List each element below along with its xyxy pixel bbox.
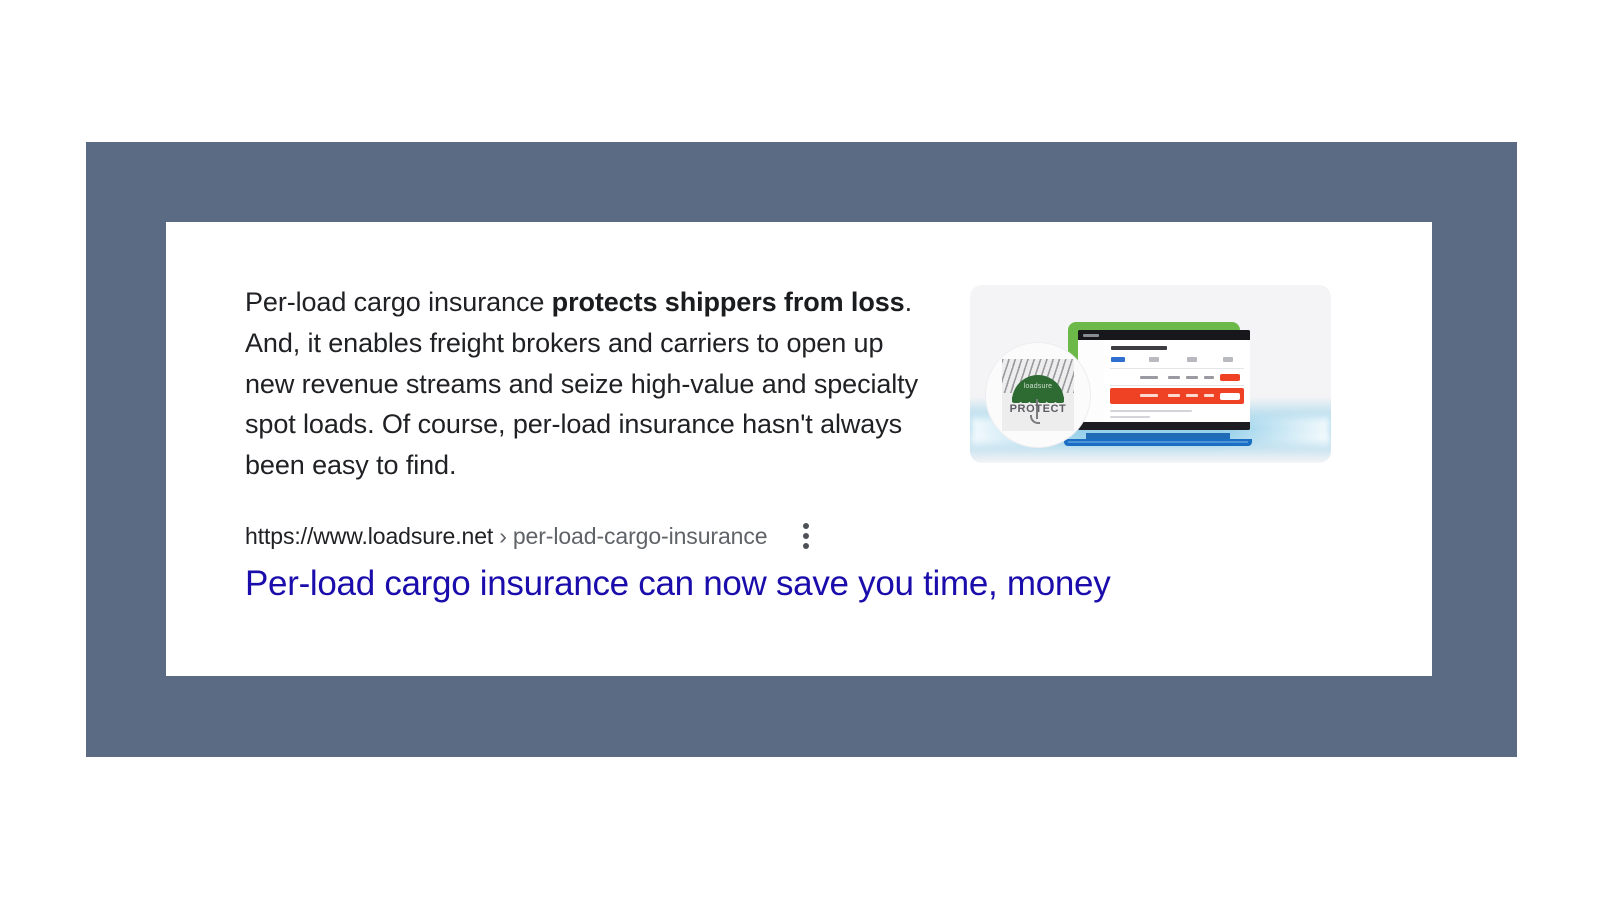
- laptop-base: [1064, 433, 1252, 447]
- kebab-dot-3: [803, 543, 809, 549]
- screen-content-area: [1104, 340, 1250, 422]
- screen-quote-row-highlighted: [1110, 388, 1244, 404]
- snippet-bold-phrase: protects shippers from loss: [552, 287, 905, 317]
- result-url-path[interactable]: per-load-cargo-insurance: [513, 523, 768, 550]
- badge-brand-label: loadsure: [1016, 383, 1060, 390]
- kebab-dot-1: [803, 523, 809, 529]
- screen-divider-top: [1110, 368, 1244, 369]
- badge-protect-label: PROTECT: [1002, 403, 1074, 415]
- screen-tab-4: [1223, 357, 1233, 362]
- screen-tab-1: [1111, 357, 1125, 362]
- screen-quote-row-1: [1110, 372, 1244, 383]
- screen-footer-bar: [1078, 422, 1250, 430]
- laptop-screen: [1078, 330, 1250, 430]
- search-result-card: Per-load cargo insurance protects shippe…: [166, 222, 1432, 676]
- more-options-kebab-icon[interactable]: [801, 521, 811, 551]
- result-url-domain[interactable]: https://www.loadsure.net: [245, 523, 493, 550]
- result-url-row: https://www.loadsure.net › per-load-carg…: [245, 518, 811, 554]
- slate-backdrop-frame: Per-load cargo insurance protects shippe…: [86, 142, 1517, 757]
- screen-note-line-2: [1110, 416, 1150, 418]
- result-title-link[interactable]: Per-load cargo insurance can now save yo…: [245, 562, 1110, 606]
- snippet-paragraph: Per-load cargo insurance protects shippe…: [245, 282, 935, 486]
- breadcrumb-separator-icon: ›: [493, 523, 513, 550]
- screen-row-action-1: [1220, 374, 1240, 381]
- loadsure-protect-badge: loadsure PROTECT: [986, 343, 1090, 447]
- screen-tab-3: [1187, 357, 1197, 362]
- screen-divider-mid: [1110, 385, 1244, 386]
- screen-note-line-1: [1110, 410, 1192, 412]
- screen-topbar: [1078, 330, 1250, 340]
- kebab-dot-2: [803, 533, 809, 539]
- umbrella-handle-hook: [1030, 415, 1040, 424]
- laptop-illustration: [1064, 322, 1252, 447]
- badge-inner-square: loadsure PROTECT: [1002, 359, 1074, 431]
- screen-tab-strip: [1111, 356, 1242, 364]
- result-thumbnail[interactable]: loadsure PROTECT: [970, 285, 1331, 463]
- screen-row-action-highlighted: [1220, 393, 1240, 400]
- screenshot-stage: Per-load cargo insurance protects shippe…: [0, 0, 1600, 900]
- screen-logo-mark: [1083, 334, 1099, 337]
- screen-heading-bar: [1111, 346, 1167, 350]
- snippet-text-before-bold: Per-load cargo insurance: [245, 287, 552, 317]
- screen-tab-2: [1149, 357, 1159, 362]
- laptop-base-highlight: [1068, 441, 1248, 443]
